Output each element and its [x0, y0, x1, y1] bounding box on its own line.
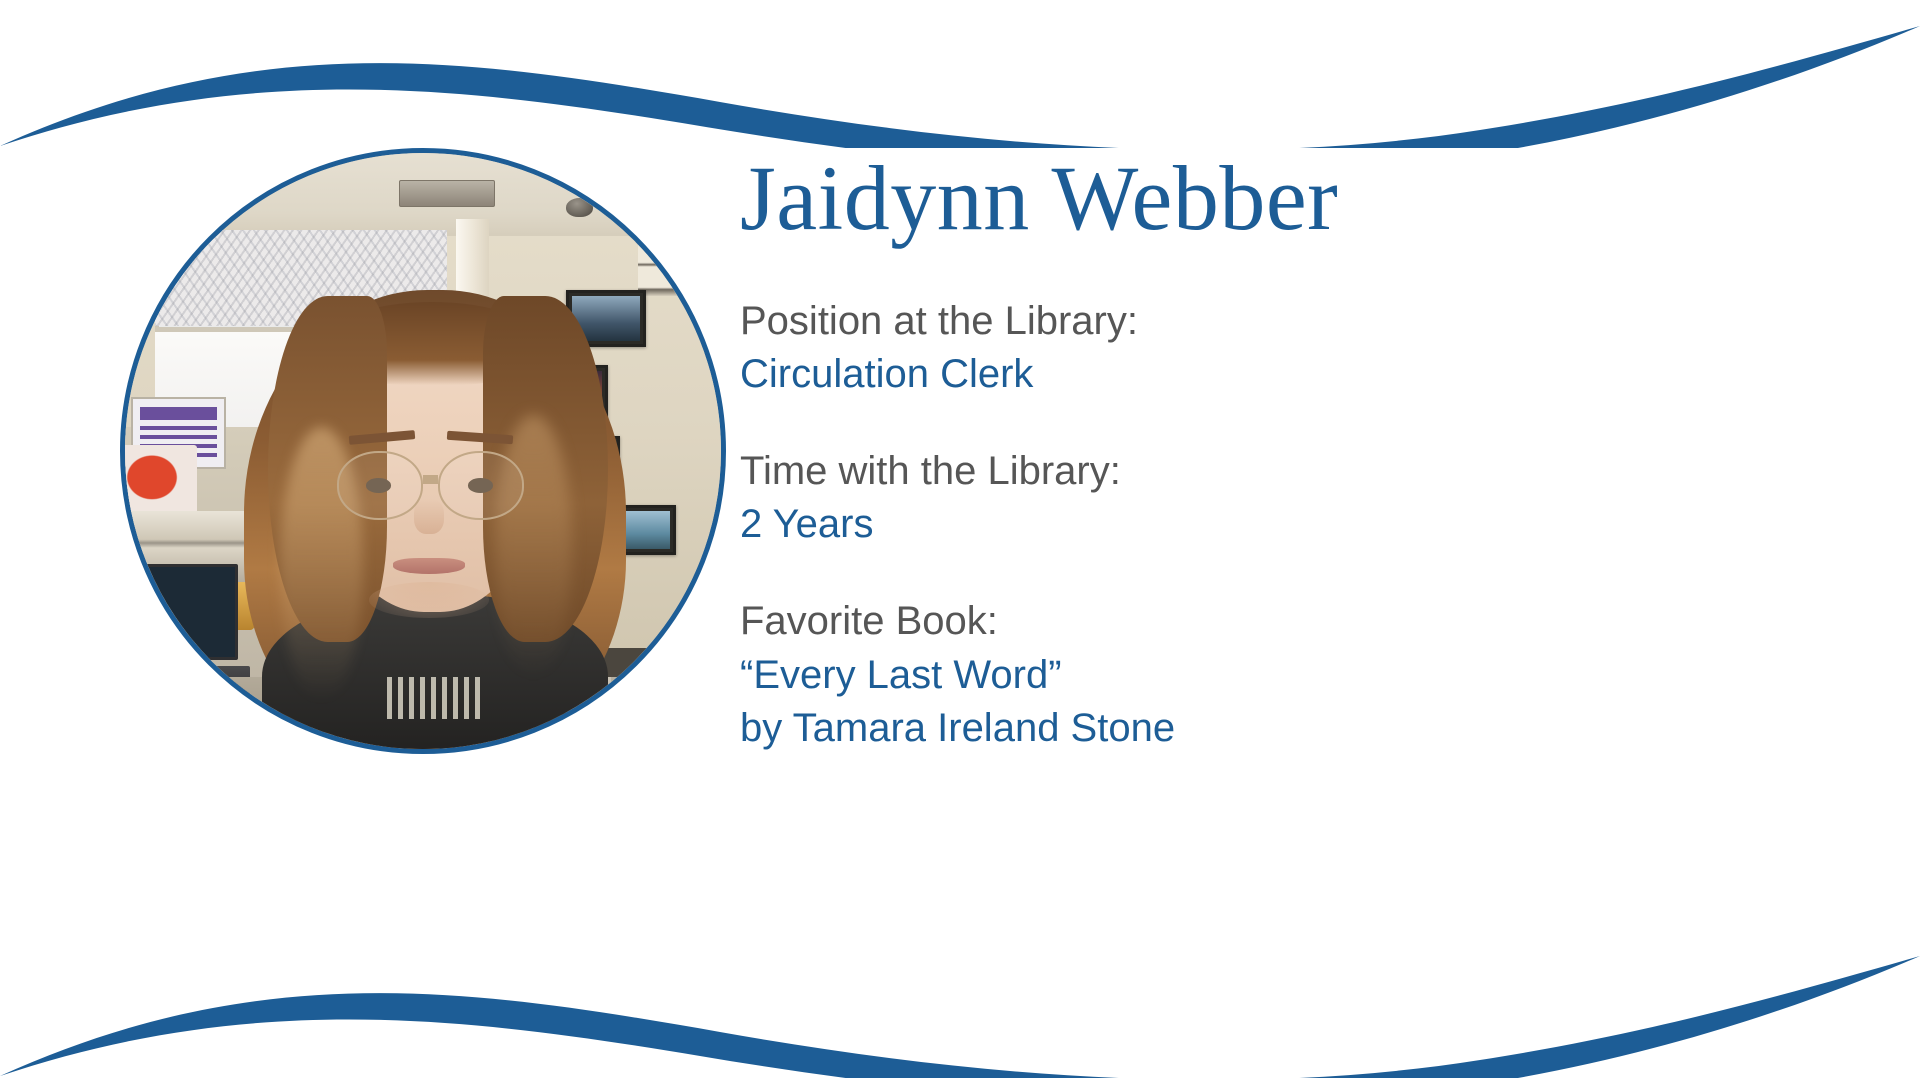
desk-monitor — [143, 564, 238, 659]
field-label: Time with the Library: — [740, 445, 1860, 498]
portrait-photo — [120, 148, 726, 754]
shirt-graphic — [387, 677, 482, 719]
ceiling-vent — [399, 180, 494, 207]
field-label: Favorite Book: — [740, 595, 1860, 648]
eyeglasses-lens-left — [337, 451, 423, 520]
staff-spotlight-card: Jaidynn Webber Position at the Library: … — [0, 0, 1920, 1080]
nose — [414, 499, 444, 535]
wall-shelf — [638, 242, 721, 296]
mouth — [393, 558, 465, 573]
bottom-wave-decoration — [0, 948, 1920, 1078]
field-value-book-author: by Tamara Ireland Stone — [740, 702, 1860, 755]
top-wave-decoration — [0, 18, 1920, 148]
field-value: Circulation Clerk — [740, 348, 1860, 401]
field-label: Position at the Library: — [740, 295, 1860, 348]
photo-scene — [125, 153, 721, 749]
field-position: Position at the Library: Circulation Cle… — [740, 295, 1860, 401]
security-dome-camera — [566, 198, 593, 217]
hair-highlight — [495, 415, 572, 677]
field-value-book-title: “Every Last Word” — [740, 649, 1860, 702]
profile-fields: Position at the Library: Circulation Cle… — [740, 295, 1860, 755]
page-title: Jaidynn Webber — [740, 150, 1860, 247]
field-tenure: Time with the Library: 2 Years — [740, 445, 1860, 551]
red-artwork — [125, 445, 197, 517]
field-value: 2 Years — [740, 498, 1860, 551]
eyeglasses-bridge — [423, 475, 438, 484]
chin — [369, 582, 488, 618]
eyeglasses-lens-right — [438, 451, 524, 520]
profile-text-column: Jaidynn Webber Position at the Library: … — [740, 150, 1860, 755]
field-favorite-book: Favorite Book: “Every Last Word” by Tama… — [740, 595, 1860, 755]
